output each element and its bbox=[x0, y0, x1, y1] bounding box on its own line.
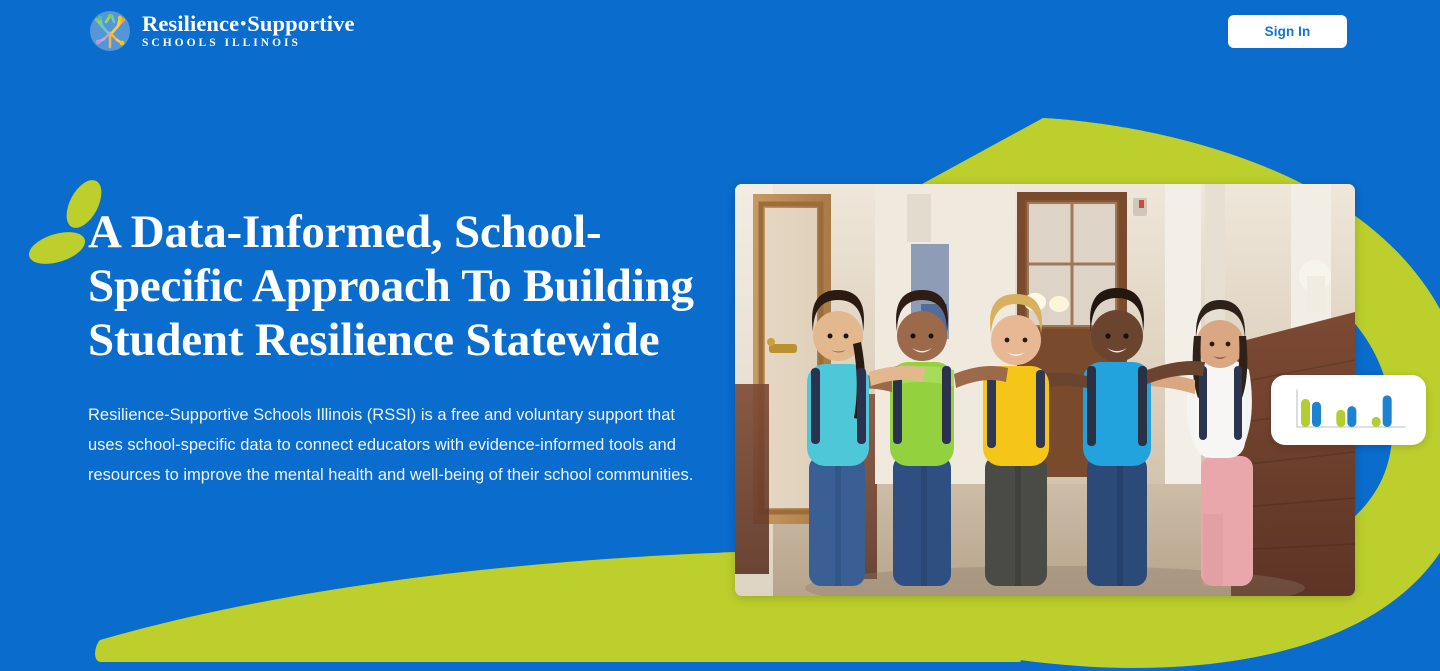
chart-bar-blue-G1 bbox=[1312, 402, 1321, 427]
chart-bar-green-G3 bbox=[1371, 417, 1380, 427]
brand-title: Resilience•Supportive bbox=[142, 12, 355, 36]
bar-chart-icon bbox=[1289, 387, 1409, 433]
sign-in-button[interactable]: Sign In bbox=[1228, 15, 1347, 48]
chart-bar-blue-G2 bbox=[1347, 406, 1356, 427]
chart-bar-green-G2 bbox=[1336, 410, 1345, 427]
child-3 bbox=[983, 294, 1049, 586]
hero-description: Resilience-Supportive Schools Illinois (… bbox=[88, 400, 703, 490]
chart-bar-green-G1 bbox=[1301, 399, 1310, 427]
tree-circle-logo-icon bbox=[88, 9, 132, 53]
site-header: Resilience•Supportive SCHOOLS ILLINOIS S… bbox=[0, 0, 1440, 64]
hero-photo bbox=[735, 184, 1355, 596]
page-title: A Data-Informed, School-Specific Approac… bbox=[88, 205, 708, 367]
hero-section: A Data-Informed, School-Specific Approac… bbox=[88, 205, 708, 490]
brand-subtitle: SCHOOLS ILLINOIS bbox=[142, 37, 355, 51]
hero-page: Resilience•Supportive SCHOOLS ILLINOIS S… bbox=[0, 0, 1440, 671]
brand-name-part1: Resilience bbox=[142, 11, 239, 36]
brand-logo[interactable]: Resilience•Supportive SCHOOLS ILLINOIS bbox=[88, 9, 355, 53]
chart-bar-blue-G3 bbox=[1382, 395, 1391, 427]
bar-chart-badge bbox=[1271, 375, 1426, 445]
brand-name-part2: Supportive bbox=[247, 11, 354, 36]
